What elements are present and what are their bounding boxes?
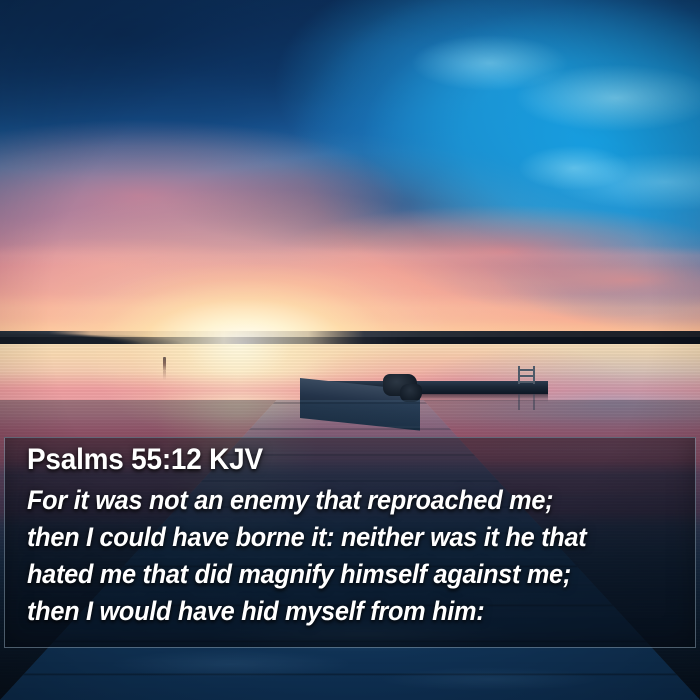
verse-line: then I would have hid myself from him: [27, 593, 646, 630]
verse-image-canvas: Psalms 55:12 KJV For it was not an enemy… [0, 0, 700, 700]
verse-line: hated me that did magnify himself agains… [27, 556, 646, 593]
verse-line: For it was not an enemy that reproached … [27, 482, 646, 519]
verse-text: For it was not an enemy that reproached … [27, 482, 675, 630]
verse-line: then I could have borne it: neither was … [27, 519, 646, 556]
verse-reference: Psalms 55:12 KJV [27, 444, 630, 476]
verse-overlay-panel: Psalms 55:12 KJV For it was not an enemy… [4, 437, 696, 648]
